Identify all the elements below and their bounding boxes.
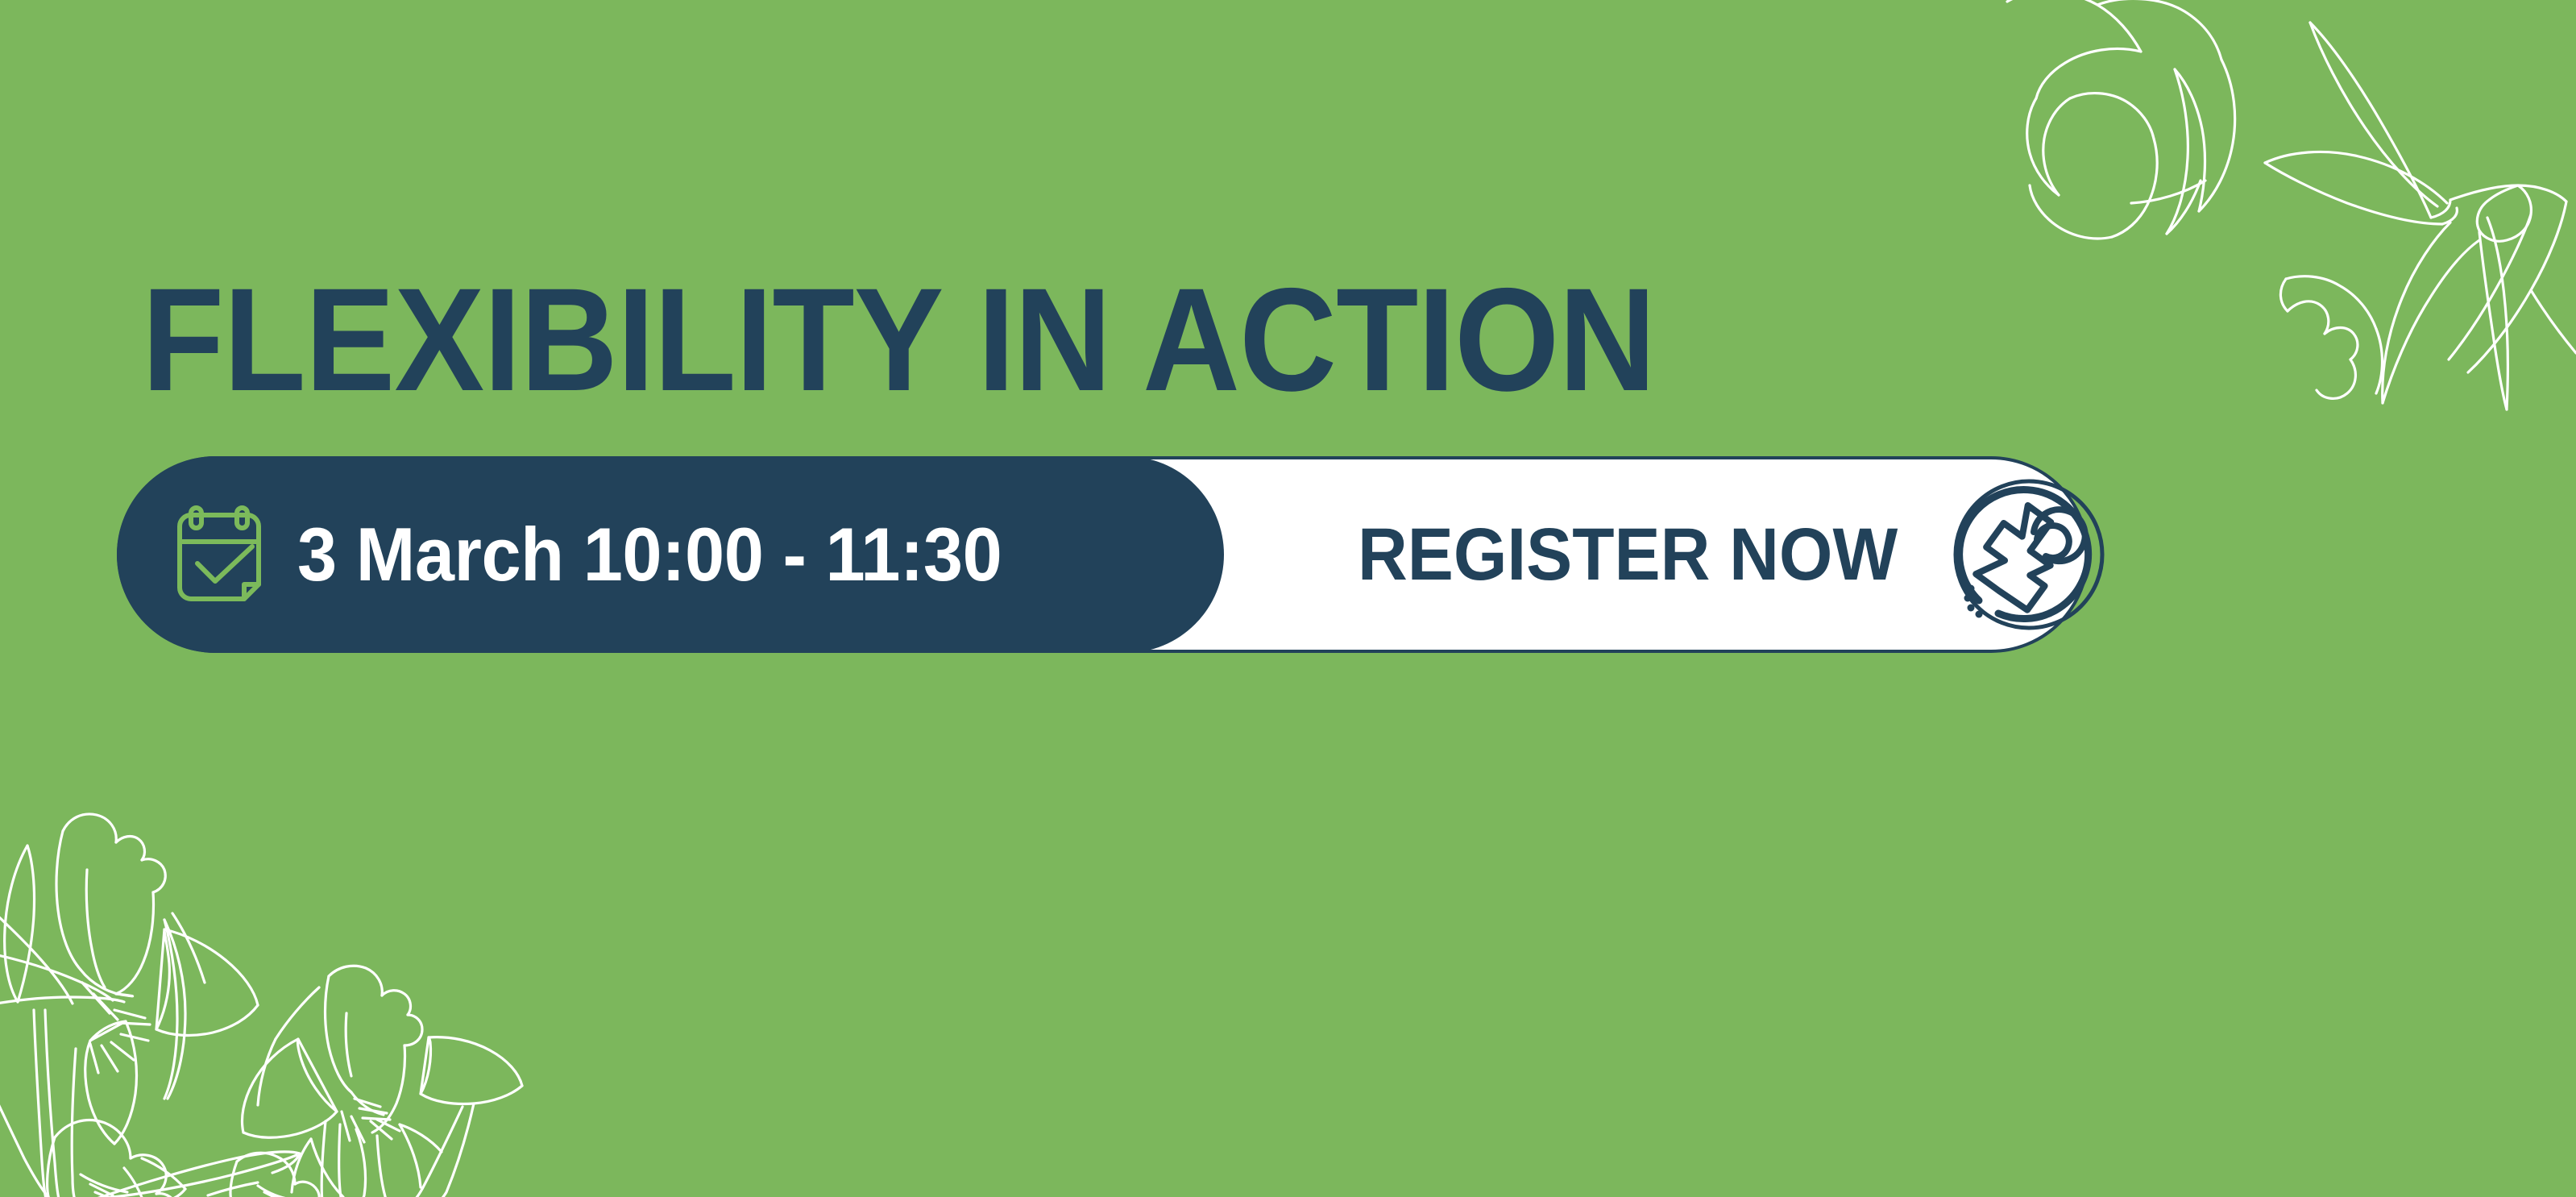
page-title: FLEXIBILITY IN ACTION (142, 266, 1773, 413)
event-banner: FLEXIBILITY IN ACTION (0, 0, 2576, 1197)
event-date-text: 3 March 10:00 - 11:30 (297, 517, 1002, 592)
floral-line-art-top-right (2002, 0, 2576, 411)
click-cursor-icon (1950, 476, 2108, 634)
calendar-check-icon (159, 494, 280, 615)
register-now-content[interactable]: REGISTER NOW (1358, 456, 2108, 653)
event-date-pill: 3 March 10:00 - 11:30 (117, 456, 1224, 653)
register-now-label: REGISTER NOW (1358, 517, 1898, 592)
daffodil-line-art-bottom-left (0, 783, 588, 1197)
cta-banner-group[interactable]: 3 March 10:00 - 11:30 REGISTER NOW (117, 456, 2089, 653)
